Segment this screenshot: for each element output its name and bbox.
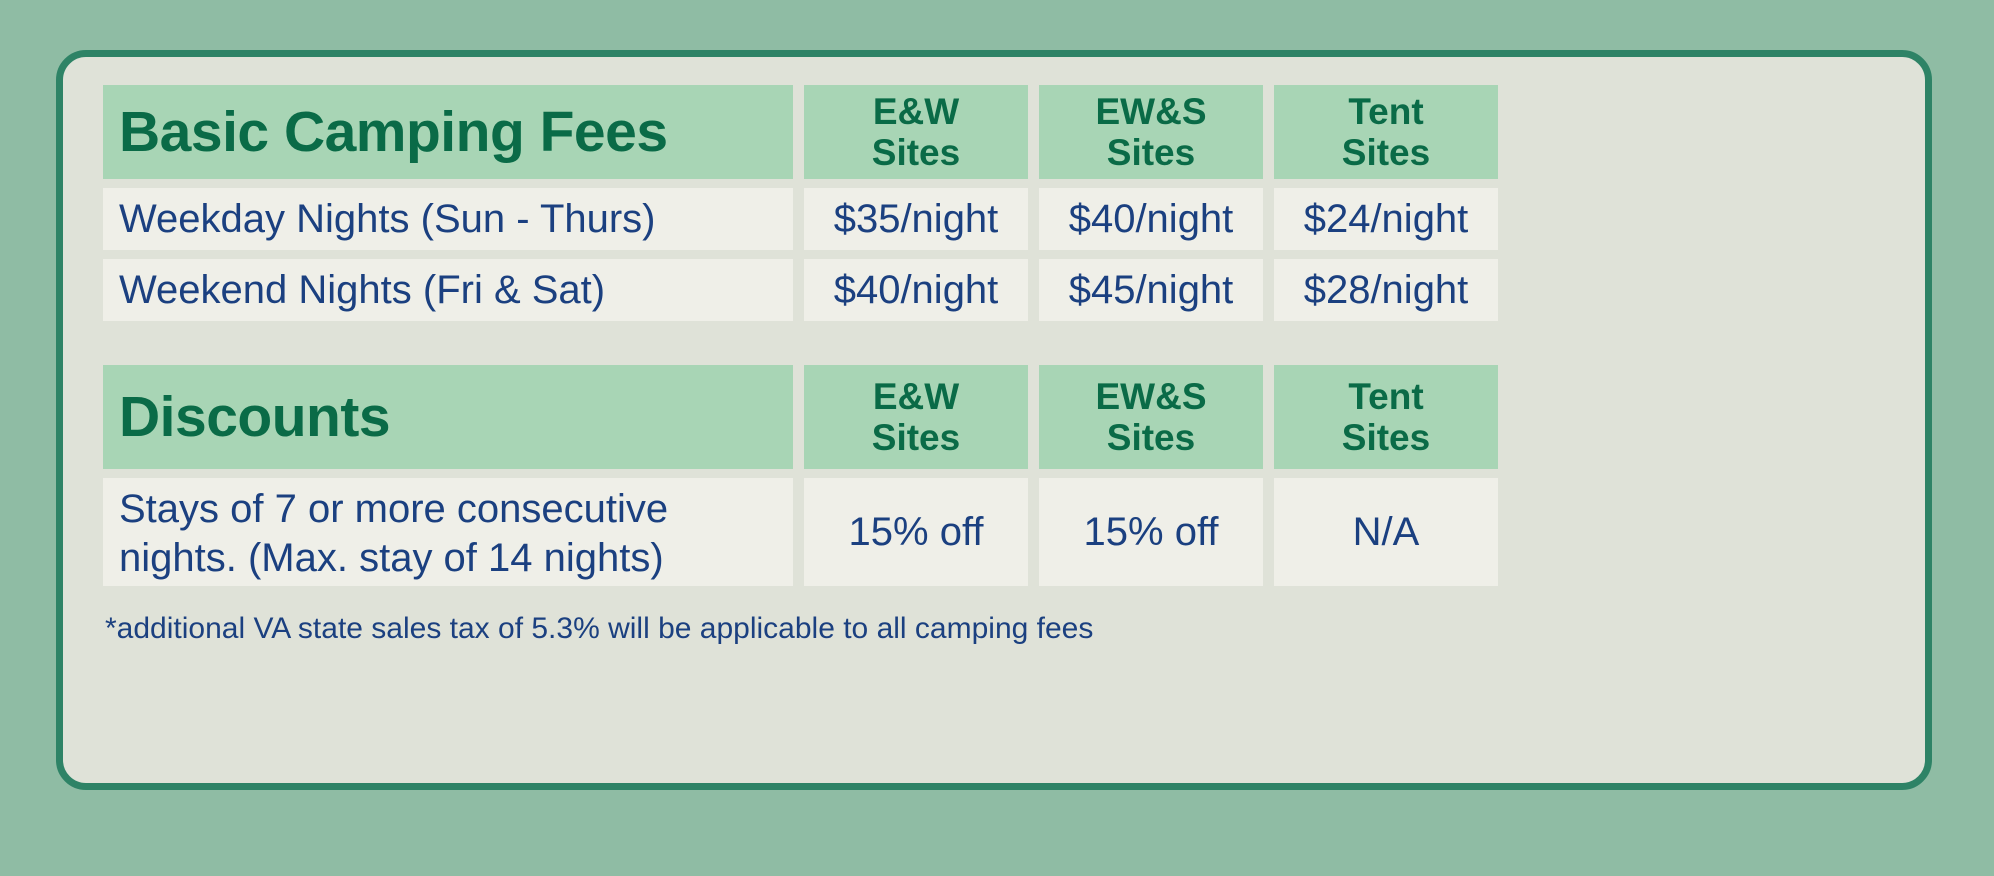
column-header-tent-sites: Tent Sites (1274, 85, 1498, 179)
column-header-line2: Sites (1342, 417, 1430, 458)
table-cell: 15% off (1039, 478, 1263, 586)
column-header-line2: Sites (1342, 132, 1430, 173)
column-header-line1: Tent (1348, 91, 1423, 132)
table-row-label: Stays of 7 or more consecutive nights. (… (103, 478, 793, 586)
table-row-label: Weekend Nights (Fri & Sat) (103, 259, 793, 321)
column-header-ews-sites: EW&S Sites (1039, 365, 1263, 469)
table-cell: $40/night (804, 259, 1028, 321)
table-cell: $45/night (1039, 259, 1263, 321)
column-header-ew-sites: E&W Sites (804, 365, 1028, 469)
table-cell: $35/night (804, 188, 1028, 250)
section-divider (103, 330, 1498, 356)
table-row-label: Weekday Nights (Sun - Thurs) (103, 188, 793, 250)
column-header-line2: Sites (872, 132, 960, 173)
table-cell: $24/night (1274, 188, 1498, 250)
column-header-line1: EW&S (1096, 376, 1207, 417)
column-header-line2: Sites (1107, 417, 1195, 458)
fees-table: Basic Camping Fees E&W Sites EW&S Sites … (103, 85, 1885, 586)
section-title-discounts: Discounts (103, 365, 793, 469)
section-title-basic-camping-fees: Basic Camping Fees (103, 85, 793, 179)
column-header-line2: Sites (1107, 132, 1195, 173)
column-header-line2: Sites (872, 417, 960, 458)
column-header-line1: E&W (873, 91, 959, 132)
table-cell: N/A (1274, 478, 1498, 586)
table-cell: $28/night (1274, 259, 1498, 321)
column-header-tent-sites: Tent Sites (1274, 365, 1498, 469)
camping-fees-card: Basic Camping Fees E&W Sites EW&S Sites … (56, 50, 1932, 790)
footnote-tax-note: *additional VA state sales tax of 5.3% w… (103, 612, 1885, 646)
column-header-line1: Tent (1348, 376, 1423, 417)
table-cell: $40/night (1039, 188, 1263, 250)
column-header-line1: EW&S (1096, 91, 1207, 132)
table-cell: 15% off (804, 478, 1028, 586)
column-header-line1: E&W (873, 376, 959, 417)
column-header-ews-sites: EW&S Sites (1039, 85, 1263, 179)
column-header-ew-sites: E&W Sites (804, 85, 1028, 179)
